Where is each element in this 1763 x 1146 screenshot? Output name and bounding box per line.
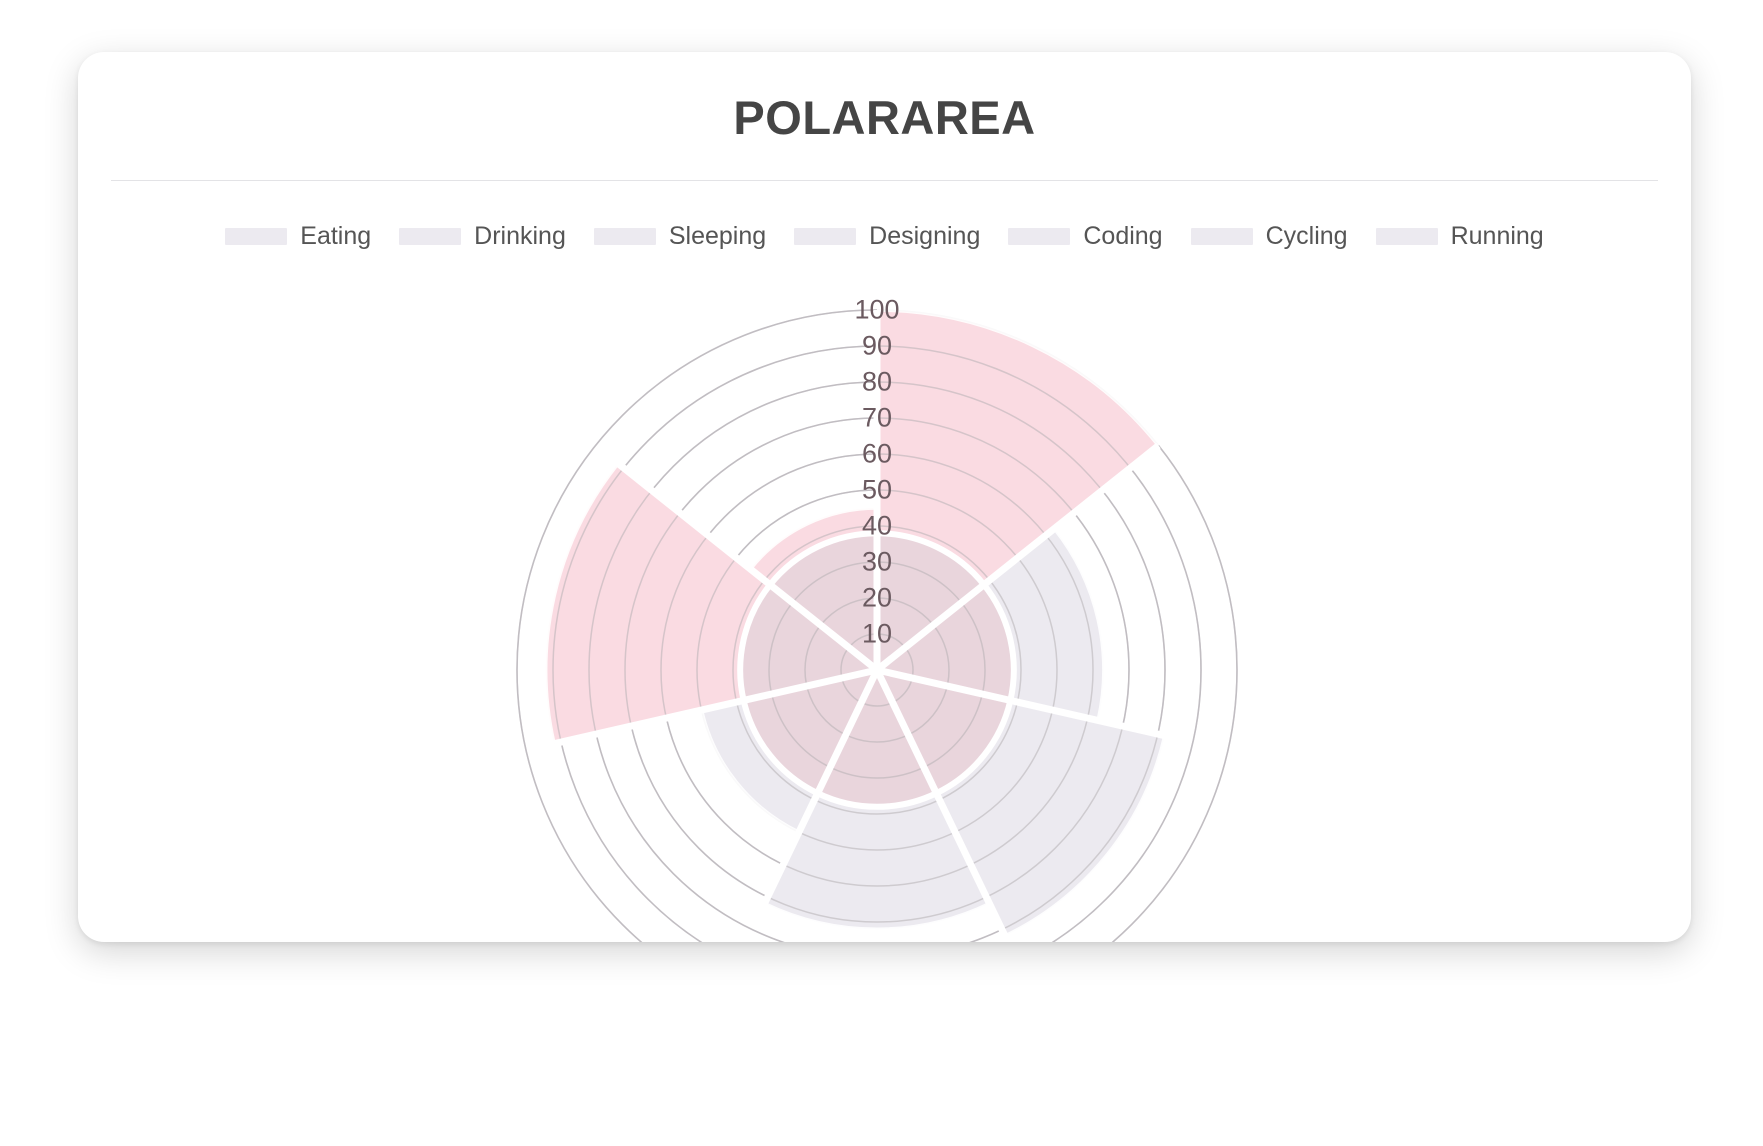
radial-axis-ticks: 102030405060708090100 bbox=[78, 52, 1691, 942]
radial-tick-label: 80 bbox=[862, 367, 892, 398]
radial-tick-label: 90 bbox=[862, 331, 892, 362]
screen: POLARAREA EatingDrinkingSleepingDesignin… bbox=[0, 0, 1763, 1146]
radial-tick-label: 20 bbox=[862, 583, 892, 614]
radial-tick-label: 40 bbox=[862, 511, 892, 542]
chart-card: POLARAREA EatingDrinkingSleepingDesignin… bbox=[78, 52, 1691, 942]
radial-tick-label: 100 bbox=[854, 295, 899, 326]
radial-tick-label: 60 bbox=[862, 439, 892, 470]
radial-tick-label: 70 bbox=[862, 403, 892, 434]
radial-tick-label: 30 bbox=[862, 547, 892, 578]
radial-tick-label: 10 bbox=[862, 619, 892, 650]
radial-tick-label: 50 bbox=[862, 475, 892, 506]
